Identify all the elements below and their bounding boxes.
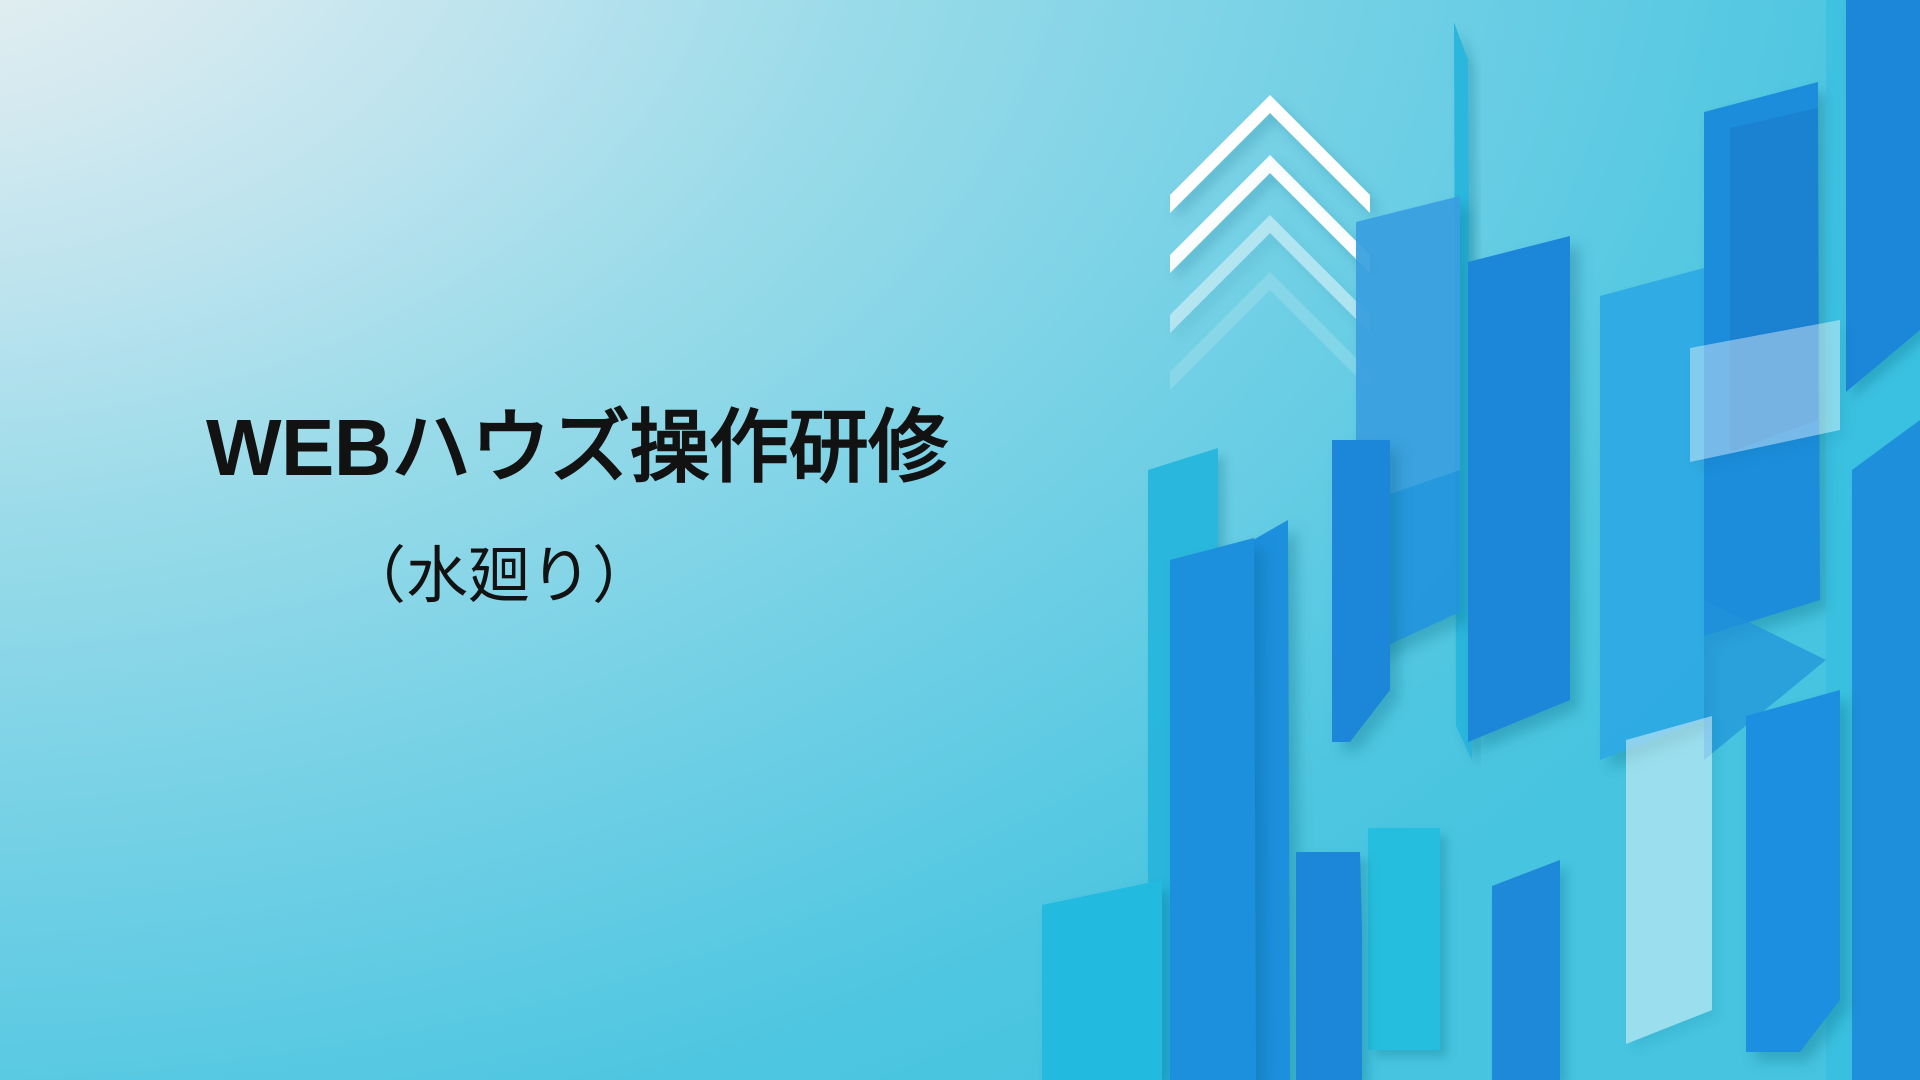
shape-parallelogram-2	[1468, 236, 1570, 742]
page-subtitle: （水廻り）	[344, 546, 654, 608]
shape-block-bottom-right	[1746, 690, 1840, 1052]
shape-rect-cyan	[1368, 828, 1440, 1050]
decorative-graphic	[1040, 0, 1920, 1080]
shape-wedge-top-right	[1846, 0, 1920, 392]
shape-translucent-bottom	[1626, 716, 1712, 1044]
shape-slim-bar-bottom	[1492, 860, 1560, 1080]
shape-tall-slab-right	[1600, 268, 1704, 760]
shape-vertical-bar-blue	[1218, 520, 1290, 1080]
shape-wedge-bottom-right	[1852, 420, 1920, 1080]
slide-root: WEBハウズ操作研修 （水廻り）	[0, 0, 1920, 1080]
shape-arrow-chunk	[1296, 852, 1362, 1080]
shape-vertical-bar-cyan	[1148, 448, 1218, 1080]
title-group: WEBハウズ操作研修 （水廻り）	[0, 0, 1000, 1080]
page-title: WEBハウズ操作研修	[206, 408, 948, 488]
chevron-stack-icon	[1170, 95, 1370, 390]
